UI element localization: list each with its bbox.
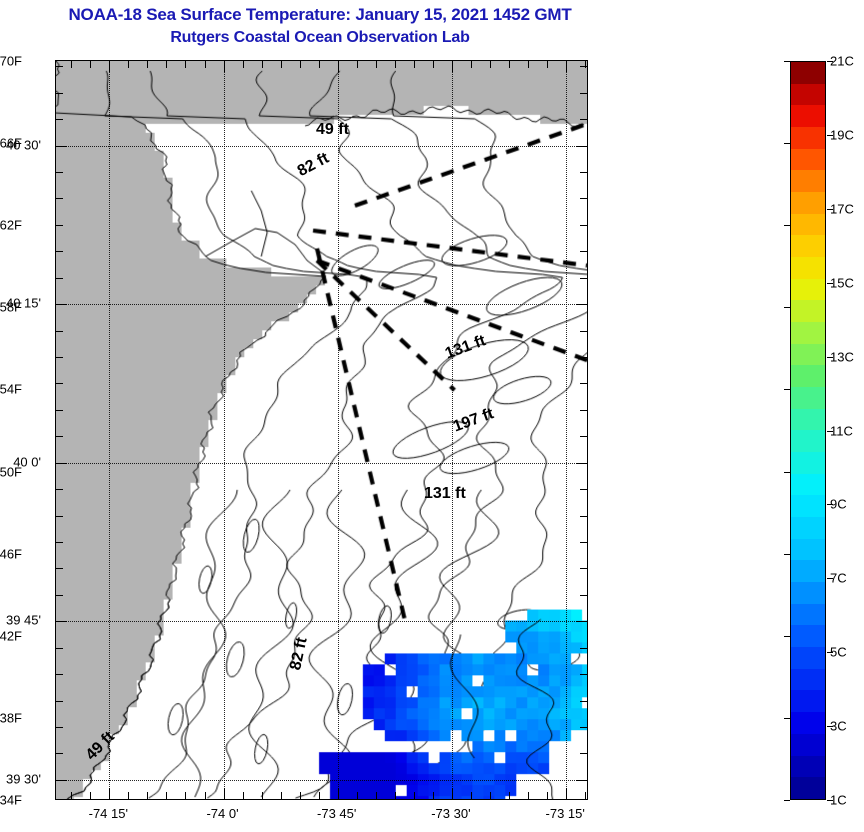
axis-tick bbox=[262, 61, 263, 68]
axis-tick bbox=[452, 61, 453, 72]
colorbar-band bbox=[791, 647, 825, 669]
axis-tick bbox=[580, 516, 587, 517]
graticule-meridian bbox=[224, 61, 225, 799]
x-axis-label: -73 15' bbox=[546, 806, 585, 821]
axis-tick bbox=[56, 383, 63, 384]
x-axis-label: -74 15' bbox=[89, 806, 128, 821]
axis-tick bbox=[580, 383, 587, 384]
axis-tick bbox=[395, 792, 396, 799]
colorbar-tick bbox=[784, 472, 790, 473]
axis-tick bbox=[580, 568, 587, 569]
colorbar-label-fahrenheit: 42F bbox=[0, 628, 22, 643]
colorbar-tick bbox=[827, 726, 833, 727]
axis-tick bbox=[224, 788, 225, 799]
axis-tick bbox=[580, 66, 587, 67]
axis-tick bbox=[580, 119, 587, 120]
axis-tick bbox=[147, 61, 148, 68]
axis-tick bbox=[205, 61, 206, 68]
colorbar-tick bbox=[827, 209, 833, 210]
colorbar-tick bbox=[827, 652, 833, 653]
colorbar-tick bbox=[827, 800, 833, 801]
axis-tick bbox=[56, 331, 63, 332]
axis-tick bbox=[243, 792, 244, 799]
y-axis-label: 39 30' bbox=[0, 771, 41, 786]
axis-tick bbox=[509, 792, 510, 799]
colorbar-band bbox=[791, 625, 825, 647]
axis-tick bbox=[580, 436, 587, 437]
colorbar-band bbox=[791, 756, 825, 778]
colorbar-band bbox=[791, 127, 825, 149]
x-axis-label: -74 0' bbox=[206, 806, 238, 821]
axis-tick bbox=[166, 61, 167, 68]
graticule-meridian bbox=[566, 61, 567, 799]
axis-tick bbox=[56, 410, 63, 411]
axis-tick bbox=[56, 489, 63, 490]
colorbar-tick bbox=[827, 61, 833, 62]
colorbar-band bbox=[791, 84, 825, 106]
axis-tick bbox=[56, 66, 63, 67]
colorbar-band bbox=[791, 712, 825, 734]
colorbar-tick bbox=[827, 431, 833, 432]
axis-tick bbox=[580, 331, 587, 332]
colorbar-band bbox=[791, 734, 825, 756]
axis-tick bbox=[109, 61, 110, 72]
axis-tick bbox=[576, 780, 587, 781]
axis-tick bbox=[56, 648, 63, 649]
graticule-parallel bbox=[56, 780, 587, 781]
colorbar-label-fahrenheit: 70F bbox=[0, 54, 22, 69]
page-title: NOAA-18 Sea Surface Temperature: January… bbox=[0, 4, 640, 49]
colorbar-band bbox=[791, 257, 825, 279]
axis-tick bbox=[566, 788, 567, 799]
colorbar-tick bbox=[827, 504, 833, 505]
colorbar-tick bbox=[784, 389, 790, 390]
graticule-parallel bbox=[56, 463, 587, 464]
colorbar-band bbox=[791, 322, 825, 344]
axis-tick bbox=[90, 792, 91, 799]
colorbar-label-celsius: 15C bbox=[830, 275, 854, 290]
axis-tick bbox=[376, 792, 377, 799]
axis-tick bbox=[166, 792, 167, 799]
axis-tick bbox=[56, 727, 63, 728]
colorbar-band bbox=[791, 430, 825, 452]
colorbar-label-celsius: 11C bbox=[830, 423, 853, 438]
axis-tick bbox=[490, 61, 491, 68]
axis-tick bbox=[580, 357, 587, 358]
colorbar-band bbox=[791, 474, 825, 496]
colorbar-band bbox=[791, 690, 825, 712]
axis-tick bbox=[433, 61, 434, 68]
colorbar-band bbox=[791, 777, 825, 799]
axis-tick bbox=[56, 251, 63, 252]
colorbar-label-fahrenheit: 38F bbox=[0, 710, 22, 725]
graticule-parallel bbox=[56, 304, 587, 305]
axis-tick bbox=[414, 61, 415, 68]
colorbar-label-celsius: 21C bbox=[830, 54, 854, 69]
axis-tick bbox=[185, 792, 186, 799]
colorbar-band bbox=[791, 300, 825, 322]
axis-tick bbox=[414, 792, 415, 799]
axis-tick bbox=[471, 61, 472, 68]
colorbar-band bbox=[791, 560, 825, 582]
colorbar-label-fahrenheit: 50F bbox=[0, 464, 22, 479]
axis-tick bbox=[147, 792, 148, 799]
colorbar-tick bbox=[784, 143, 790, 144]
axis-tick bbox=[580, 93, 587, 94]
colorbar[interactable] bbox=[790, 61, 826, 800]
colorbar-label-celsius: 17C bbox=[830, 201, 854, 216]
axis-tick bbox=[109, 788, 110, 799]
axis-tick bbox=[56, 146, 67, 147]
axis-tick bbox=[224, 61, 225, 72]
axis-tick bbox=[71, 792, 72, 799]
graticule-parallel bbox=[56, 146, 587, 147]
depth-contour-label: 131 ft bbox=[424, 485, 466, 503]
axis-tick bbox=[56, 172, 63, 173]
colorbar-band bbox=[791, 517, 825, 539]
axis-tick bbox=[56, 225, 63, 226]
axis-tick bbox=[580, 674, 587, 675]
colorbar-band bbox=[791, 170, 825, 192]
colorbar-gradient bbox=[790, 61, 826, 800]
axis-tick bbox=[56, 568, 63, 569]
axis-tick bbox=[585, 792, 586, 799]
colorbar-tick bbox=[784, 718, 790, 719]
colorbar-band bbox=[791, 279, 825, 301]
axis-tick bbox=[580, 410, 587, 411]
axis-tick bbox=[580, 753, 587, 754]
axis-tick bbox=[56, 463, 67, 464]
axis-tick bbox=[56, 357, 63, 358]
axis-tick bbox=[580, 225, 587, 226]
depth-contour-label: 49 ft bbox=[316, 121, 349, 139]
axis-tick bbox=[580, 648, 587, 649]
axis-tick bbox=[509, 61, 510, 68]
map-plot-area[interactable]: 49 ft82 ft131 ft197 ft131 ft82 ft49 ft bbox=[55, 60, 588, 800]
axis-tick bbox=[56, 304, 67, 305]
colorbar-label-fahrenheit: 54F bbox=[0, 382, 22, 397]
axis-tick bbox=[395, 61, 396, 68]
colorbar-label-celsius: 13C bbox=[830, 349, 854, 364]
graticule-meridian bbox=[452, 61, 453, 799]
axis-tick bbox=[338, 788, 339, 799]
colorbar-band bbox=[791, 192, 825, 214]
axis-tick bbox=[338, 61, 339, 72]
axis-tick bbox=[490, 792, 491, 799]
axis-tick bbox=[471, 792, 472, 799]
colorbar-tick bbox=[827, 578, 833, 579]
graticule-parallel bbox=[56, 621, 587, 622]
axis-tick bbox=[580, 251, 587, 252]
colorbar-label-fahrenheit: 34F bbox=[0, 793, 22, 808]
colorbar-tick bbox=[784, 225, 790, 226]
colorbar-band bbox=[791, 582, 825, 604]
x-axis-label: -73 30' bbox=[431, 806, 470, 821]
axis-tick bbox=[528, 792, 529, 799]
axis-tick bbox=[281, 61, 282, 68]
axis-tick bbox=[243, 61, 244, 68]
colorbar-band bbox=[791, 344, 825, 366]
axis-tick bbox=[580, 198, 587, 199]
axis-tick bbox=[576, 304, 587, 305]
axis-tick bbox=[547, 61, 548, 68]
axis-tick bbox=[56, 119, 63, 120]
colorbar-tick bbox=[784, 636, 790, 637]
axis-tick bbox=[56, 621, 67, 622]
axis-tick bbox=[281, 792, 282, 799]
axis-tick bbox=[56, 278, 63, 279]
colorbar-label-celsius: 19C bbox=[830, 127, 854, 142]
colorbar-band bbox=[791, 452, 825, 474]
axis-tick bbox=[319, 792, 320, 799]
axis-tick bbox=[433, 792, 434, 799]
colorbar-band bbox=[791, 669, 825, 691]
colorbar-band bbox=[791, 604, 825, 626]
colorbar-band bbox=[791, 409, 825, 431]
axis-tick bbox=[566, 61, 567, 72]
axis-tick bbox=[452, 788, 453, 799]
colorbar-band bbox=[791, 214, 825, 236]
axis-tick bbox=[56, 516, 63, 517]
axis-tick bbox=[128, 61, 129, 68]
axis-tick bbox=[576, 146, 587, 147]
axis-tick bbox=[205, 792, 206, 799]
axis-tick bbox=[90, 61, 91, 68]
axis-tick bbox=[56, 674, 63, 675]
axis-tick bbox=[580, 542, 587, 543]
axis-tick bbox=[56, 780, 67, 781]
colorbar-label-fahrenheit: 58F bbox=[0, 300, 22, 315]
axis-tick bbox=[300, 792, 301, 799]
axis-tick bbox=[56, 198, 63, 199]
axis-tick bbox=[580, 727, 587, 728]
axis-tick bbox=[580, 278, 587, 279]
axis-tick bbox=[580, 489, 587, 490]
axis-tick bbox=[576, 463, 587, 464]
colorbar-band bbox=[791, 235, 825, 257]
axis-tick bbox=[56, 701, 63, 702]
axis-tick bbox=[547, 792, 548, 799]
axis-tick bbox=[528, 61, 529, 68]
axis-tick bbox=[71, 61, 72, 68]
axis-tick bbox=[56, 93, 63, 94]
axis-tick bbox=[262, 792, 263, 799]
title-line-1: NOAA-18 Sea Surface Temperature: January… bbox=[0, 4, 640, 27]
axis-tick bbox=[376, 61, 377, 68]
colorbar-tick bbox=[827, 283, 833, 284]
colorbar-band bbox=[791, 62, 825, 84]
axis-tick bbox=[357, 792, 358, 799]
axis-tick bbox=[128, 792, 129, 799]
colorbar-label-fahrenheit: 62F bbox=[0, 218, 22, 233]
axis-tick bbox=[56, 595, 63, 596]
axis-tick bbox=[56, 436, 63, 437]
axis-tick bbox=[576, 621, 587, 622]
colorbar-band bbox=[791, 539, 825, 561]
colorbar-band bbox=[791, 495, 825, 517]
colorbar-tick bbox=[784, 800, 790, 801]
title-line-2: Rutgers Coastal Ocean Observation Lab bbox=[0, 27, 640, 49]
colorbar-band bbox=[791, 365, 825, 387]
axis-tick bbox=[580, 595, 587, 596]
colorbar-label-fahrenheit: 66F bbox=[0, 136, 22, 151]
colorbar-band bbox=[791, 105, 825, 127]
colorbar-tick bbox=[827, 357, 833, 358]
colorbar-band bbox=[791, 149, 825, 171]
axis-tick bbox=[319, 61, 320, 68]
y-axis-label: 39 45' bbox=[0, 613, 41, 628]
axis-tick bbox=[185, 61, 186, 68]
axis-tick bbox=[56, 753, 63, 754]
graticule-meridian bbox=[109, 61, 110, 799]
colorbar-band bbox=[791, 387, 825, 409]
colorbar-tick bbox=[827, 135, 833, 136]
x-axis-label: -73 45' bbox=[317, 806, 356, 821]
axis-tick bbox=[580, 172, 587, 173]
colorbar-tick bbox=[784, 554, 790, 555]
axis-tick bbox=[300, 61, 301, 68]
colorbar-tick bbox=[784, 307, 790, 308]
axis-tick bbox=[357, 61, 358, 68]
colorbar-label-fahrenheit: 46F bbox=[0, 546, 22, 561]
sst-map-canvas bbox=[56, 61, 587, 799]
graticule-meridian bbox=[338, 61, 339, 799]
axis-tick bbox=[580, 701, 587, 702]
axis-tick bbox=[56, 542, 63, 543]
colorbar-tick bbox=[784, 61, 790, 62]
